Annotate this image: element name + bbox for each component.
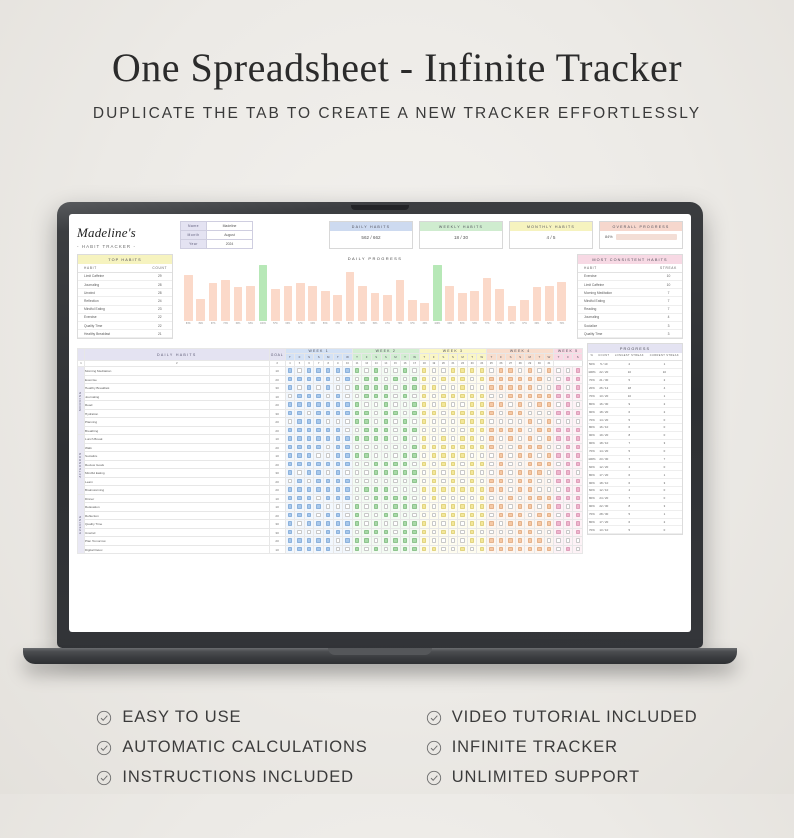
habit-check-cell[interactable] [506, 486, 516, 495]
checkbox[interactable] [307, 419, 311, 423]
habit-check-cell[interactable] [419, 545, 429, 554]
habit-check-cell[interactable] [333, 409, 343, 418]
habit-check-cell[interactable] [429, 520, 439, 529]
habit-check-cell[interactable] [295, 486, 305, 495]
habit-check-cell[interactable] [563, 469, 573, 478]
checkbox[interactable] [432, 513, 436, 517]
habit-check-cell[interactable] [352, 392, 362, 401]
habit-check-cell[interactable] [439, 511, 449, 520]
checkbox[interactable] [556, 402, 560, 406]
habit-check-cell[interactable] [285, 469, 295, 478]
habit-check-cell[interactable] [371, 537, 381, 546]
checkbox[interactable] [384, 530, 388, 534]
checkbox[interactable] [480, 462, 484, 466]
checkbox[interactable] [451, 377, 455, 381]
checkbox[interactable] [489, 394, 493, 398]
checkbox[interactable] [508, 470, 512, 474]
habit-check-cell[interactable] [448, 477, 458, 486]
checkbox[interactable] [422, 530, 426, 534]
checkbox[interactable] [441, 394, 445, 398]
habit-check-cell[interactable] [362, 477, 372, 486]
habit-check-cell[interactable] [573, 401, 583, 410]
habit-check-cell[interactable] [477, 452, 487, 461]
habit-check-cell[interactable] [362, 469, 372, 478]
habit-check-cell[interactable] [295, 460, 305, 469]
habit-check-cell[interactable] [295, 375, 305, 384]
habit-check-cell[interactable] [323, 494, 333, 503]
checkbox[interactable] [422, 445, 426, 449]
checkbox[interactable] [518, 385, 522, 389]
checkbox[interactable] [556, 462, 560, 466]
checkbox[interactable] [451, 368, 455, 372]
habit-check-cell[interactable] [515, 545, 525, 554]
habit-goal[interactable]: 30 [269, 409, 285, 418]
habit-check-cell[interactable] [535, 469, 545, 478]
habit-check-cell[interactable] [487, 545, 497, 554]
habit-check-cell[interactable] [544, 545, 554, 554]
checkbox[interactable] [422, 385, 426, 389]
checkbox[interactable] [480, 445, 484, 449]
checkbox[interactable] [403, 368, 407, 372]
checkbox[interactable] [297, 428, 301, 432]
habit-check-cell[interactable] [323, 375, 333, 384]
checkbox[interactable] [537, 547, 541, 551]
checkbox[interactable] [384, 411, 388, 415]
habit-check-cell[interactable] [506, 528, 516, 537]
habit-check-cell[interactable] [371, 367, 381, 376]
checkbox[interactable] [576, 436, 580, 440]
checkbox[interactable] [480, 504, 484, 508]
habit-check-cell[interactable] [506, 511, 516, 520]
checkbox[interactable] [422, 428, 426, 432]
habit-check-cell[interactable] [381, 477, 391, 486]
habit-check-cell[interactable] [429, 375, 439, 384]
checkbox[interactable] [576, 479, 580, 483]
habit-check-cell[interactable] [448, 367, 458, 376]
checkbox[interactable] [528, 521, 532, 525]
habit-check-cell[interactable] [343, 409, 353, 418]
checkbox[interactable] [537, 470, 541, 474]
habit-check-cell[interactable] [352, 418, 362, 427]
checkbox[interactable] [355, 496, 359, 500]
habit-check-cell[interactable] [535, 537, 545, 546]
checkbox[interactable] [537, 445, 541, 449]
habit-check-cell[interactable] [381, 503, 391, 512]
habit-check-cell[interactable] [400, 477, 410, 486]
habit-check-cell[interactable] [371, 503, 381, 512]
habit-check-cell[interactable] [352, 367, 362, 376]
habit-check-cell[interactable] [563, 494, 573, 503]
checkbox[interactable] [508, 487, 512, 491]
checkbox[interactable] [393, 530, 397, 534]
habit-check-cell[interactable] [333, 503, 343, 512]
checkbox[interactable] [556, 513, 560, 517]
checkbox[interactable] [528, 411, 532, 415]
checkbox[interactable] [393, 419, 397, 423]
checkbox[interactable] [374, 521, 378, 525]
habit-check-cell[interactable] [410, 401, 420, 410]
habit-check-cell[interactable] [515, 392, 525, 401]
checkbox[interactable] [432, 402, 436, 406]
checkbox[interactable] [403, 504, 407, 508]
checkbox[interactable] [460, 479, 464, 483]
checkbox[interactable] [374, 419, 378, 423]
habit-check-cell[interactable] [400, 486, 410, 495]
checkbox[interactable] [441, 368, 445, 372]
checkbox[interactable] [470, 445, 474, 449]
habit-check-cell[interactable] [285, 418, 295, 427]
habit-check-cell[interactable] [352, 384, 362, 393]
habit-check-cell[interactable] [381, 486, 391, 495]
checkbox[interactable] [432, 394, 436, 398]
habit-check-cell[interactable] [381, 511, 391, 520]
checkbox[interactable] [307, 428, 311, 432]
checkbox[interactable] [432, 445, 436, 449]
habit-check-cell[interactable] [467, 503, 477, 512]
checkbox[interactable] [316, 479, 320, 483]
habit-check-cell[interactable] [544, 443, 554, 452]
habit-check-cell[interactable] [573, 528, 583, 537]
habit-check-cell[interactable] [285, 537, 295, 546]
habit-check-cell[interactable] [535, 443, 545, 452]
checkbox[interactable] [326, 504, 330, 508]
habit-check-cell[interactable] [477, 545, 487, 554]
checkbox[interactable] [326, 479, 330, 483]
habit-check-cell[interactable] [496, 537, 506, 546]
habit-check-cell[interactable] [477, 375, 487, 384]
habit-check-cell[interactable] [304, 443, 314, 452]
habit-check-cell[interactable] [515, 520, 525, 529]
habit-check-cell[interactable] [410, 443, 420, 452]
checkbox[interactable] [489, 462, 493, 466]
checkbox[interactable] [451, 445, 455, 449]
habit-check-cell[interactable] [544, 435, 554, 444]
checkbox[interactable] [326, 377, 330, 381]
habit-check-cell[interactable] [525, 401, 535, 410]
habit-check-cell[interactable] [381, 443, 391, 452]
habit-check-cell[interactable] [487, 511, 497, 520]
checkbox[interactable] [355, 428, 359, 432]
habit-check-cell[interactable] [343, 494, 353, 503]
habit-check-cell[interactable] [535, 367, 545, 376]
checkbox[interactable] [489, 385, 493, 389]
habit-check-cell[interactable] [458, 528, 468, 537]
habit-check-cell[interactable] [285, 494, 295, 503]
habit-check-cell[interactable] [391, 401, 401, 410]
checkbox[interactable] [393, 504, 397, 508]
habit-check-cell[interactable] [448, 418, 458, 427]
habit-check-cell[interactable] [525, 384, 535, 393]
checkbox[interactable] [508, 521, 512, 525]
checkbox[interactable] [499, 436, 503, 440]
checkbox[interactable] [537, 530, 541, 534]
habit-check-cell[interactable] [400, 426, 410, 435]
habit-check-cell[interactable] [448, 503, 458, 512]
checkbox[interactable] [288, 419, 292, 423]
checkbox[interactable] [451, 530, 455, 534]
habit-check-cell[interactable] [285, 545, 295, 554]
checkbox[interactable] [451, 496, 455, 500]
habit-check-cell[interactable] [506, 537, 516, 546]
checkbox[interactable] [422, 368, 426, 372]
checkbox[interactable] [412, 394, 416, 398]
habit-check-cell[interactable] [362, 426, 372, 435]
checkbox[interactable] [460, 530, 464, 534]
checkbox[interactable] [374, 487, 378, 491]
habit-check-cell[interactable] [410, 367, 420, 376]
habit-check-cell[interactable] [496, 460, 506, 469]
checkbox[interactable] [345, 487, 349, 491]
checkbox[interactable] [412, 436, 416, 440]
checkbox[interactable] [336, 462, 340, 466]
checkbox[interactable] [576, 530, 580, 534]
checkbox[interactable] [364, 377, 368, 381]
checkbox[interactable] [374, 428, 378, 432]
habit-check-cell[interactable] [333, 375, 343, 384]
habit-check-cell[interactable] [525, 477, 535, 486]
habit-check-cell[interactable] [439, 384, 449, 393]
habit-check-cell[interactable] [419, 477, 429, 486]
habit-check-cell[interactable] [295, 392, 305, 401]
checkbox[interactable] [508, 538, 512, 542]
checkbox[interactable] [422, 462, 426, 466]
habit-check-cell[interactable] [285, 503, 295, 512]
checkbox[interactable] [374, 411, 378, 415]
checkbox[interactable] [508, 385, 512, 389]
checkbox[interactable] [432, 479, 436, 483]
checkbox[interactable] [556, 487, 560, 491]
checkbox[interactable] [480, 394, 484, 398]
habit-check-cell[interactable] [391, 477, 401, 486]
habit-check-cell[interactable] [573, 503, 583, 512]
habit-goal[interactable]: 30 [269, 528, 285, 537]
checkbox[interactable] [374, 513, 378, 517]
checkbox[interactable] [403, 521, 407, 525]
checkbox[interactable] [489, 445, 493, 449]
checkbox[interactable] [566, 445, 570, 449]
checkbox[interactable] [566, 513, 570, 517]
habit-check-cell[interactable] [467, 392, 477, 401]
checkbox[interactable] [384, 504, 388, 508]
checkbox[interactable] [326, 402, 330, 406]
habit-check-cell[interactable] [477, 477, 487, 486]
checkbox[interactable] [451, 419, 455, 423]
habit-check-cell[interactable] [477, 435, 487, 444]
habit-check-cell[interactable] [515, 384, 525, 393]
habit-check-cell[interactable] [563, 426, 573, 435]
checkbox[interactable] [576, 462, 580, 466]
habit-check-cell[interactable] [439, 469, 449, 478]
habit-check-cell[interactable] [573, 443, 583, 452]
checkbox[interactable] [441, 436, 445, 440]
habit-check-cell[interactable] [496, 426, 506, 435]
checkbox[interactable] [345, 513, 349, 517]
checkbox[interactable] [297, 538, 301, 542]
habit-check-cell[interactable] [563, 401, 573, 410]
habit-check-cell[interactable] [343, 401, 353, 410]
checkbox[interactable] [489, 487, 493, 491]
habit-check-cell[interactable] [352, 528, 362, 537]
checkbox[interactable] [345, 385, 349, 389]
checkbox[interactable] [489, 504, 493, 508]
habit-check-cell[interactable] [535, 511, 545, 520]
checkbox[interactable] [288, 445, 292, 449]
checkbox[interactable] [345, 521, 349, 525]
checkbox[interactable] [489, 402, 493, 406]
checkbox[interactable] [508, 479, 512, 483]
checkbox[interactable] [307, 462, 311, 466]
checkbox[interactable] [470, 419, 474, 423]
habit-check-cell[interactable] [525, 452, 535, 461]
checkbox[interactable] [422, 419, 426, 423]
habit-check-cell[interactable] [515, 426, 525, 435]
habit-check-cell[interactable] [314, 520, 324, 529]
checkbox[interactable] [460, 496, 464, 500]
habit-check-cell[interactable] [371, 452, 381, 461]
checkbox[interactable] [316, 419, 320, 423]
habit-check-cell[interactable] [496, 528, 506, 537]
checkbox[interactable] [518, 419, 522, 423]
checkbox[interactable] [556, 411, 560, 415]
habit-check-cell[interactable] [333, 435, 343, 444]
checkbox[interactable] [499, 462, 503, 466]
habit-check-cell[interactable] [439, 528, 449, 537]
checkbox[interactable] [326, 487, 330, 491]
checkbox[interactable] [537, 368, 541, 372]
checkbox[interactable] [547, 462, 551, 466]
habit-check-cell[interactable] [314, 537, 324, 546]
checkbox[interactable] [288, 377, 292, 381]
habit-check-cell[interactable] [535, 418, 545, 427]
checkbox[interactable] [316, 521, 320, 525]
habit-check-cell[interactable] [323, 452, 333, 461]
habit-check-cell[interactable] [467, 367, 477, 376]
habit-check-cell[interactable] [515, 486, 525, 495]
checkbox[interactable] [460, 521, 464, 525]
checkbox[interactable] [316, 377, 320, 381]
checkbox[interactable] [451, 411, 455, 415]
checkbox[interactable] [297, 394, 301, 398]
habit-check-cell[interactable] [515, 418, 525, 427]
habit-check-cell[interactable] [467, 443, 477, 452]
habit-check-cell[interactable] [506, 520, 516, 529]
checkbox[interactable] [528, 513, 532, 517]
checkbox[interactable] [432, 385, 436, 389]
checkbox[interactable] [480, 436, 484, 440]
checkbox[interactable] [480, 479, 484, 483]
habit-check-cell[interactable] [554, 452, 564, 461]
checkbox[interactable] [422, 479, 426, 483]
habit-check-cell[interactable] [333, 392, 343, 401]
habit-goal[interactable]: 20 [269, 426, 285, 435]
checkbox[interactable] [489, 377, 493, 381]
habit-check-cell[interactable] [400, 528, 410, 537]
habit-check-cell[interactable] [333, 537, 343, 546]
habit-check-cell[interactable] [410, 503, 420, 512]
habit-check-cell[interactable] [506, 418, 516, 427]
checkbox[interactable] [528, 445, 532, 449]
checkbox[interactable] [307, 547, 311, 551]
habit-check-cell[interactable] [323, 477, 333, 486]
habit-check-cell[interactable] [563, 537, 573, 546]
habit-check-cell[interactable] [295, 367, 305, 376]
checkbox[interactable] [537, 385, 541, 389]
checkbox[interactable] [537, 462, 541, 466]
habit-check-cell[interactable] [515, 367, 525, 376]
habit-check-cell[interactable] [554, 384, 564, 393]
checkbox[interactable] [508, 453, 512, 457]
checkbox[interactable] [364, 411, 368, 415]
habit-check-cell[interactable] [410, 375, 420, 384]
habit-check-cell[interactable] [343, 426, 353, 435]
checkbox[interactable] [345, 436, 349, 440]
habit-check-cell[interactable] [304, 545, 314, 554]
habit-check-cell[interactable] [467, 486, 477, 495]
habit-check-cell[interactable] [323, 537, 333, 546]
habit-check-cell[interactable] [352, 486, 362, 495]
checkbox[interactable] [537, 496, 541, 500]
habit-check-cell[interactable] [333, 469, 343, 478]
checkbox[interactable] [518, 487, 522, 491]
checkbox[interactable] [403, 411, 407, 415]
habit-check-cell[interactable] [439, 435, 449, 444]
habit-check-cell[interactable] [381, 469, 391, 478]
habit-goal[interactable]: 10 [269, 367, 285, 376]
checkbox[interactable] [412, 479, 416, 483]
habit-check-cell[interactable] [496, 443, 506, 452]
habit-check-cell[interactable] [285, 392, 295, 401]
habit-check-cell[interactable] [304, 537, 314, 546]
checkbox[interactable] [480, 547, 484, 551]
habit-check-cell[interactable] [439, 452, 449, 461]
checkbox[interactable] [460, 368, 464, 372]
habit-check-cell[interactable] [343, 452, 353, 461]
habit-check-cell[interactable] [525, 545, 535, 554]
habit-check-cell[interactable] [506, 401, 516, 410]
checkbox[interactable] [537, 436, 541, 440]
habit-check-cell[interactable] [314, 503, 324, 512]
habit-check-cell[interactable] [535, 384, 545, 393]
checkbox[interactable] [412, 419, 416, 423]
habit-check-cell[interactable] [285, 367, 295, 376]
checkbox[interactable] [412, 428, 416, 432]
habit-check-cell[interactable] [285, 384, 295, 393]
habit-check-cell[interactable] [333, 511, 343, 520]
habit-goal[interactable]: 20 [269, 537, 285, 546]
checkbox[interactable] [547, 368, 551, 372]
checkbox[interactable] [345, 462, 349, 466]
checkbox[interactable] [566, 385, 570, 389]
habit-check-cell[interactable] [323, 426, 333, 435]
habit-check-cell[interactable] [323, 443, 333, 452]
habit-check-cell[interactable] [285, 375, 295, 384]
habit-check-cell[interactable] [410, 477, 420, 486]
checkbox[interactable] [345, 547, 349, 551]
checkbox[interactable] [518, 470, 522, 474]
habit-check-cell[interactable] [544, 409, 554, 418]
checkbox[interactable] [480, 521, 484, 525]
habit-check-cell[interactable] [295, 409, 305, 418]
habit-goal[interactable]: 10 [269, 435, 285, 444]
checkbox[interactable] [451, 521, 455, 525]
habit-check-cell[interactable] [352, 520, 362, 529]
habit-check-cell[interactable] [506, 469, 516, 478]
checkbox[interactable] [412, 487, 416, 491]
checkbox[interactable] [288, 504, 292, 508]
habit-check-cell[interactable] [304, 384, 314, 393]
checkbox[interactable] [441, 487, 445, 491]
habit-check-cell[interactable] [391, 384, 401, 393]
